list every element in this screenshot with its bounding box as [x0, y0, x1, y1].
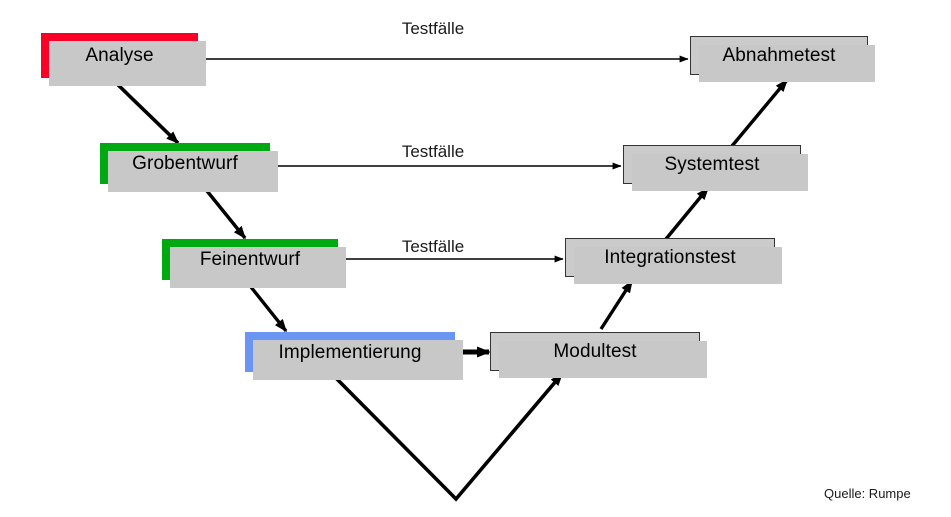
node-analyse-label: Analyse — [85, 46, 153, 65]
node-implementierung-label: Implementierung — [278, 343, 421, 362]
edge-label-testfaelle-3: Testfälle — [378, 237, 488, 257]
node-abnahmetest-label: Abnahmetest — [722, 46, 835, 65]
node-abnahmetest[interactable]: Abnahmetest — [690, 36, 868, 75]
node-integrationstest[interactable]: Integrationstest — [565, 238, 775, 277]
connector-modultest-to-integrationstest — [601, 281, 632, 329]
connector-systemtest-to-abnahmetest — [732, 80, 787, 146]
v-model-diagram: Analyse Grobentwurf Feinentwurf Implemen… — [0, 0, 951, 517]
connector-grobentwurf-to-feinentwurf — [203, 186, 245, 238]
edge-label-testfaelle-1: Testfälle — [378, 19, 488, 39]
source-credit: Quelle: Rumpe — [824, 486, 911, 501]
connector-integrationstest-to-systemtest — [666, 188, 708, 239]
node-systemtest-label: Systemtest — [665, 155, 760, 174]
node-grobentwurf-label: Grobentwurf — [132, 154, 238, 173]
edge-label-testfaelle-2: Testfälle — [378, 142, 488, 162]
connector-analyse-to-grobentwurf — [113, 80, 178, 143]
node-modultest-label: Modultest — [553, 342, 636, 361]
node-systemtest[interactable]: Systemtest — [623, 145, 801, 184]
node-modultest[interactable]: Modultest — [490, 332, 700, 371]
node-feinentwurf[interactable]: Feinentwurf — [162, 239, 338, 280]
node-feinentwurf-label: Feinentwurf — [200, 250, 300, 269]
connector-v-bottom — [330, 372, 562, 499]
node-analyse[interactable]: Analyse — [41, 33, 198, 78]
node-grobentwurf[interactable]: Grobentwurf — [100, 143, 270, 184]
node-integrationstest-label: Integrationstest — [604, 248, 736, 267]
connector-feinentwurf-to-implementierung — [247, 282, 286, 331]
node-implementierung[interactable]: Implementierung — [245, 332, 455, 372]
